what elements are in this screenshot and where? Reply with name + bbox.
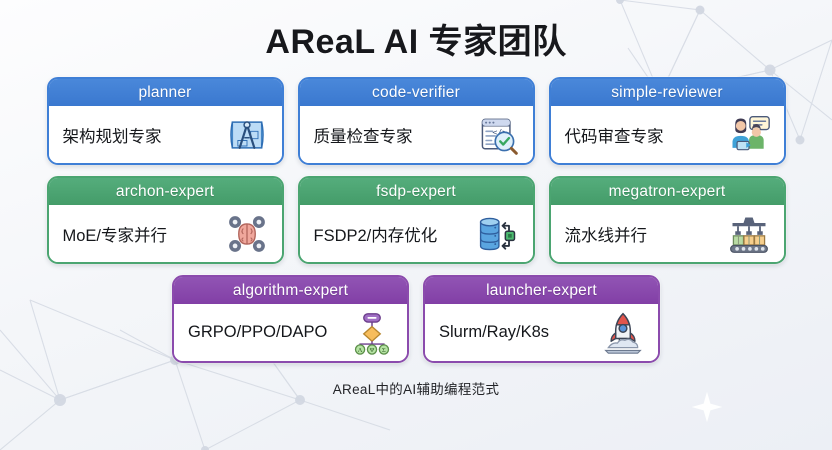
agent-card-body: 流水线并行 — [551, 205, 784, 262]
agent-card-title: algorithm-expert — [174, 277, 407, 304]
code-review-magnifier-icon: </> — [475, 112, 521, 158]
svg-text:Σ: Σ — [382, 346, 386, 353]
agent-card-body: 代码审查专家 — [551, 106, 784, 163]
database-sync-icon — [475, 211, 521, 257]
agent-card-description: 架构规划专家 — [63, 123, 162, 147]
agent-card-description: 质量检查专家 — [314, 123, 413, 147]
agent-card-body: 架构规划专家 — [49, 106, 282, 163]
svg-text:Λ: Λ — [358, 346, 363, 353]
agent-card-megatron-expert[interactable]: megatron-expert 流水线并行 — [549, 176, 786, 264]
agent-card-title: archon-expert — [49, 178, 282, 205]
assembly-line-icon — [726, 211, 772, 257]
card-row-green: archon-expert MoE/专家并行 — [0, 176, 832, 264]
rocket-launch-icon — [600, 310, 646, 356]
agent-card-planner[interactable]: planner 架构规划专家 — [47, 77, 284, 165]
agent-card-title: simple-reviewer — [551, 79, 784, 106]
agent-card-archon-expert[interactable]: archon-expert MoE/专家并行 — [47, 176, 284, 264]
agent-card-code-verifier[interactable]: code-verifier 质量检查专家 </> — [298, 77, 535, 165]
agent-card-title: planner — [49, 79, 282, 106]
agent-card-launcher-expert[interactable]: launcher-expert Slurm/Ray/K8s — [423, 275, 660, 363]
card-row-purple: algorithm-expert GRPO/PPO/DAPO — [0, 275, 832, 363]
card-row-blue: planner 架构规划专家 — [0, 77, 832, 165]
agent-card-body: MoE/专家并行 — [49, 205, 282, 262]
agent-card-title: fsdp-expert — [300, 178, 533, 205]
agent-card-description: FSDP2/内存优化 — [314, 222, 438, 246]
agent-card-description: 代码审查专家 — [565, 123, 664, 147]
agent-card-description: Slurm/Ray/K8s — [439, 323, 549, 342]
agent-card-algorithm-expert[interactable]: algorithm-expert GRPO/PPO/DAPO — [172, 275, 409, 363]
flowchart-tree-icon: ΛΨΣ — [349, 310, 395, 356]
agent-card-description: 流水线并行 — [565, 222, 648, 246]
slide-root: AReaL AI 专家团队 planner 架构规划专家 — [0, 0, 832, 450]
agent-card-description: GRPO/PPO/DAPO — [188, 323, 327, 342]
footer-caption: AReaL中的AI辅助编程范式 — [333, 378, 500, 398]
brain-gears-icon — [224, 211, 270, 257]
agent-card-body: FSDP2/内存优化 — [300, 205, 533, 262]
agent-card-title: launcher-expert — [425, 277, 658, 304]
agent-card-title: megatron-expert — [551, 178, 784, 205]
agent-card-body: Slurm/Ray/K8s — [425, 304, 658, 361]
agent-card-fsdp-expert[interactable]: fsdp-expert FSDP2/内存优化 — [298, 176, 535, 264]
agent-card-simple-reviewer[interactable]: simple-reviewer 代码审查专家 — [549, 77, 786, 165]
page-title: AReaL AI 专家团队 — [265, 14, 566, 63]
agent-card-description: MoE/专家并行 — [63, 222, 168, 246]
card-grid: planner 架构规划专家 — [0, 77, 832, 374]
svg-text:Ψ: Ψ — [370, 346, 375, 353]
agent-card-body: 质量检查专家 </> — [300, 106, 533, 163]
people-chat-review-icon — [726, 112, 772, 158]
agent-card-body: GRPO/PPO/DAPO — [174, 304, 407, 361]
compass-blueprint-icon — [224, 112, 270, 158]
agent-card-title: code-verifier — [300, 79, 533, 106]
